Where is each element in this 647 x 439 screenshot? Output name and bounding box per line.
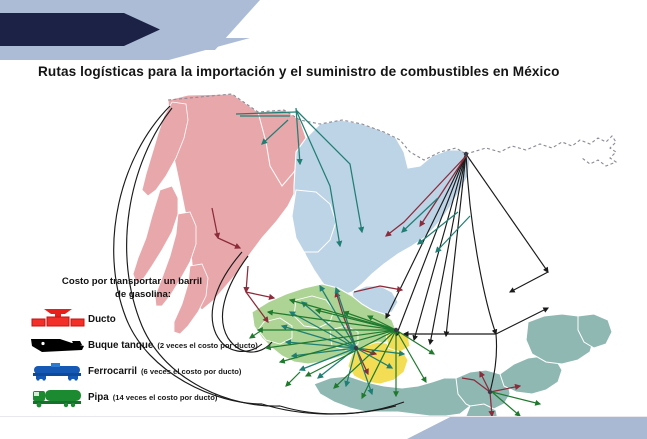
legend: Costo por transportar un barril de gasol… <box>30 276 330 410</box>
legend-item-buque-tanque: Buque tanque (2 veces el costo por ducto… <box>30 332 330 358</box>
legend-label-ducto: Ducto <box>88 314 116 325</box>
legend-label-ferrocarril: Ferrocarril <box>88 366 137 377</box>
legend-note-pipa: (14 veces el costo por ducto) <box>113 393 218 402</box>
rail-tank-car-icon <box>30 359 88 383</box>
legend-item-ducto: Ducto <box>30 306 330 332</box>
legend-heading-line2: de gasolina: <box>34 289 230 302</box>
legend-label-buque-tanque: Buque tanque <box>88 340 153 351</box>
tanker-ship-icon <box>30 333 88 357</box>
legend-item-ferrocarril: Ferrocarril (6 veces el costo por ducto) <box>30 358 330 384</box>
legend-items: Ducto Buque tanque (2 veces el costo por… <box>30 306 330 410</box>
legend-heading: Costo por transportar un barril de gasol… <box>34 276 230 301</box>
legend-note-ferrocarril: (6 veces el costo por ducto) <box>141 367 241 376</box>
tanker-truck-icon <box>30 385 88 409</box>
legend-heading-line1: Costo por transportar un barril <box>62 276 202 287</box>
page-title: Rutas logísticas para la importación y e… <box>38 64 618 79</box>
legend-label-pipa: Pipa <box>88 392 109 403</box>
banner-bottom-right <box>407 417 647 439</box>
legend-item-pipa: Pipa (14 veces el costo por ducto) <box>30 384 330 410</box>
legend-note-buque-tanque: (2 veces el costo por ducto) <box>157 341 257 350</box>
footer-divider <box>0 416 647 417</box>
slide-canvas: Rutas logísticas para la importación y e… <box>0 0 647 439</box>
pipeline-valve-icon <box>30 307 88 331</box>
